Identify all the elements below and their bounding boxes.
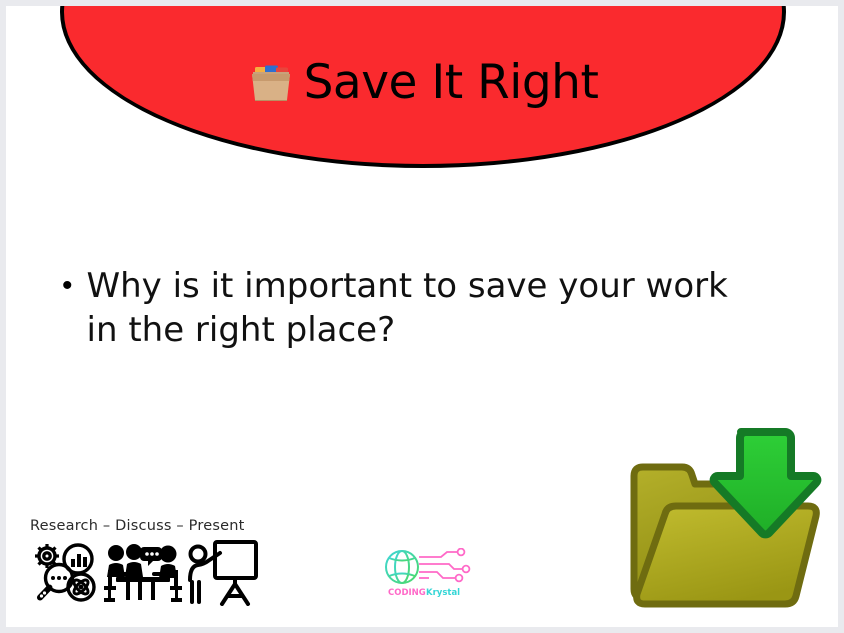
slide-title-block: Save It Right <box>60 42 786 122</box>
present-icon <box>186 538 260 611</box>
footer-icon-row <box>30 538 280 611</box>
research-discuss-present-footer: Research – Discuss – Present <box>30 518 280 611</box>
slide-frame: Save It Right • Why is it important to s… <box>0 0 844 633</box>
brand-name-primary: CODING <box>388 588 426 598</box>
list-item: • Why is it important to save your work … <box>62 264 782 352</box>
discuss-icon <box>104 540 182 611</box>
card-index-dividers-icon <box>248 60 294 106</box>
page-title: Save It Right <box>304 59 599 106</box>
slide-canvas: Save It Right • Why is it important to s… <box>6 6 838 627</box>
bullet-text: Why is it important to save your work in… <box>87 264 747 352</box>
brand-logo: CODING Krystal <box>378 548 482 600</box>
footer-caption: Research – Discuss – Present <box>30 518 280 534</box>
save-to-folder-graphic <box>618 424 834 624</box>
bullet-list: • Why is it important to save your work … <box>62 264 782 352</box>
research-icon <box>30 540 100 611</box>
brand-name-secondary: Krystal <box>426 588 460 598</box>
bullet-marker: • <box>62 264 73 308</box>
